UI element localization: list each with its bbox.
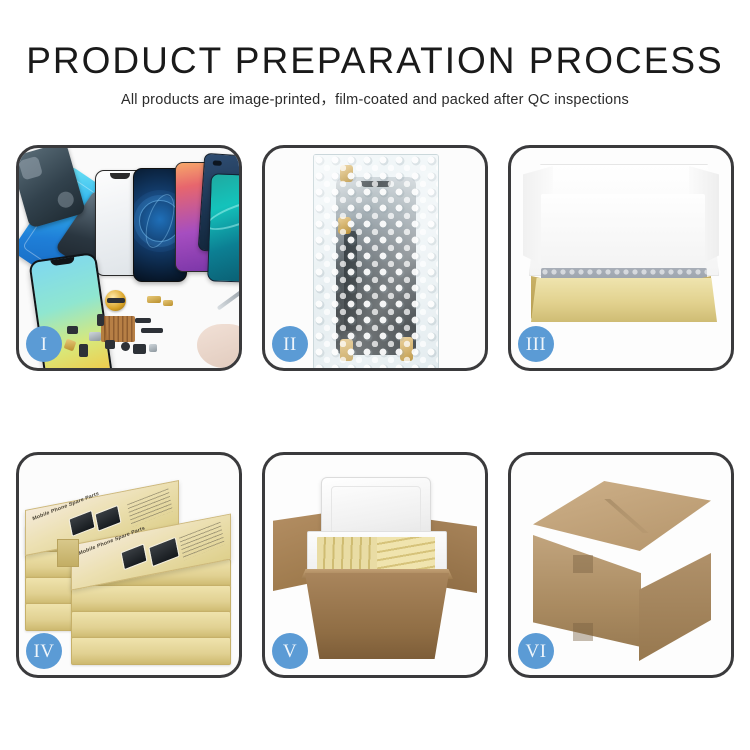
camera-module-icon <box>133 344 146 354</box>
box-stack: Mobile Phone Spare Parts Mobile Phone Sp… <box>25 473 239 665</box>
carton-body-icon <box>305 573 449 659</box>
chip-component-icon <box>97 314 104 326</box>
step-panel-3: III <box>508 145 734 371</box>
metal-bracket-icon <box>89 332 101 341</box>
flex-cable-icon <box>135 318 151 323</box>
hand-icon <box>197 324 239 368</box>
carton-top-face-icon <box>533 481 711 551</box>
gold-connector-icon <box>147 296 161 303</box>
box-stack-side-face <box>57 539 79 567</box>
step-panel-4: Mobile Phone Spare Parts Mobile Phone Sp… <box>16 452 242 678</box>
step-panel-2: II <box>262 145 488 371</box>
carton-side-face-icon <box>639 553 711 661</box>
product-preparation-infographic: PRODUCT PREPARATION PROCESS All products… <box>0 0 750 750</box>
step-badge-3: III <box>518 326 554 362</box>
step-badge-5: V <box>272 633 308 669</box>
speaker-module-icon <box>105 340 115 349</box>
process-steps-grid: I II <box>16 145 734 678</box>
stacked-box <box>71 585 231 613</box>
stacked-box <box>71 611 231 639</box>
step-badge-1: I <box>26 326 62 362</box>
step-panel-5: V <box>262 452 488 678</box>
vibration-motor-icon <box>121 342 130 351</box>
carton-flap-tab-upper-icon <box>573 555 593 573</box>
logic-board-component-icon <box>101 316 135 342</box>
page-subtitle: All products are image-printed，film-coat… <box>0 82 750 109</box>
tweezers-icon <box>217 290 239 311</box>
step-badge-6: VI <box>518 633 554 669</box>
box-spec-lines-icon <box>127 488 173 527</box>
button-flex-icon <box>67 326 78 334</box>
box-artwork-screen-icon <box>120 543 147 570</box>
small-chip-icon <box>107 298 125 303</box>
sim-tray-icon <box>79 344 88 357</box>
screw-plate-icon <box>149 344 157 352</box>
page-title: PRODUCT PREPARATION PROCESS <box>0 0 750 82</box>
box-artwork-screen-icon <box>68 510 95 537</box>
step-badge-4: IV <box>26 633 62 669</box>
step-badge-2: II <box>272 326 308 362</box>
step-panel-1: I <box>16 145 242 371</box>
box-artwork-screen-icon <box>148 537 179 568</box>
kraft-tray-icon <box>531 278 717 322</box>
gold-bracket-icon <box>163 300 173 306</box>
carton-flap-tab-lower-icon <box>573 623 593 641</box>
header: PRODUCT PREPARATION PROCESS All products… <box>0 0 750 109</box>
stacked-box <box>71 637 231 665</box>
teal-phone-icon <box>207 173 239 282</box>
bubble-wrap-bag-icon <box>313 154 439 368</box>
box-spec-lines-icon <box>179 522 225 561</box>
plastic-sheen-icon <box>314 155 438 368</box>
box-artwork-screen-icon <box>94 505 121 532</box>
step-panel-6: VI <box>508 452 734 678</box>
ribbon-cable-icon <box>141 328 163 333</box>
